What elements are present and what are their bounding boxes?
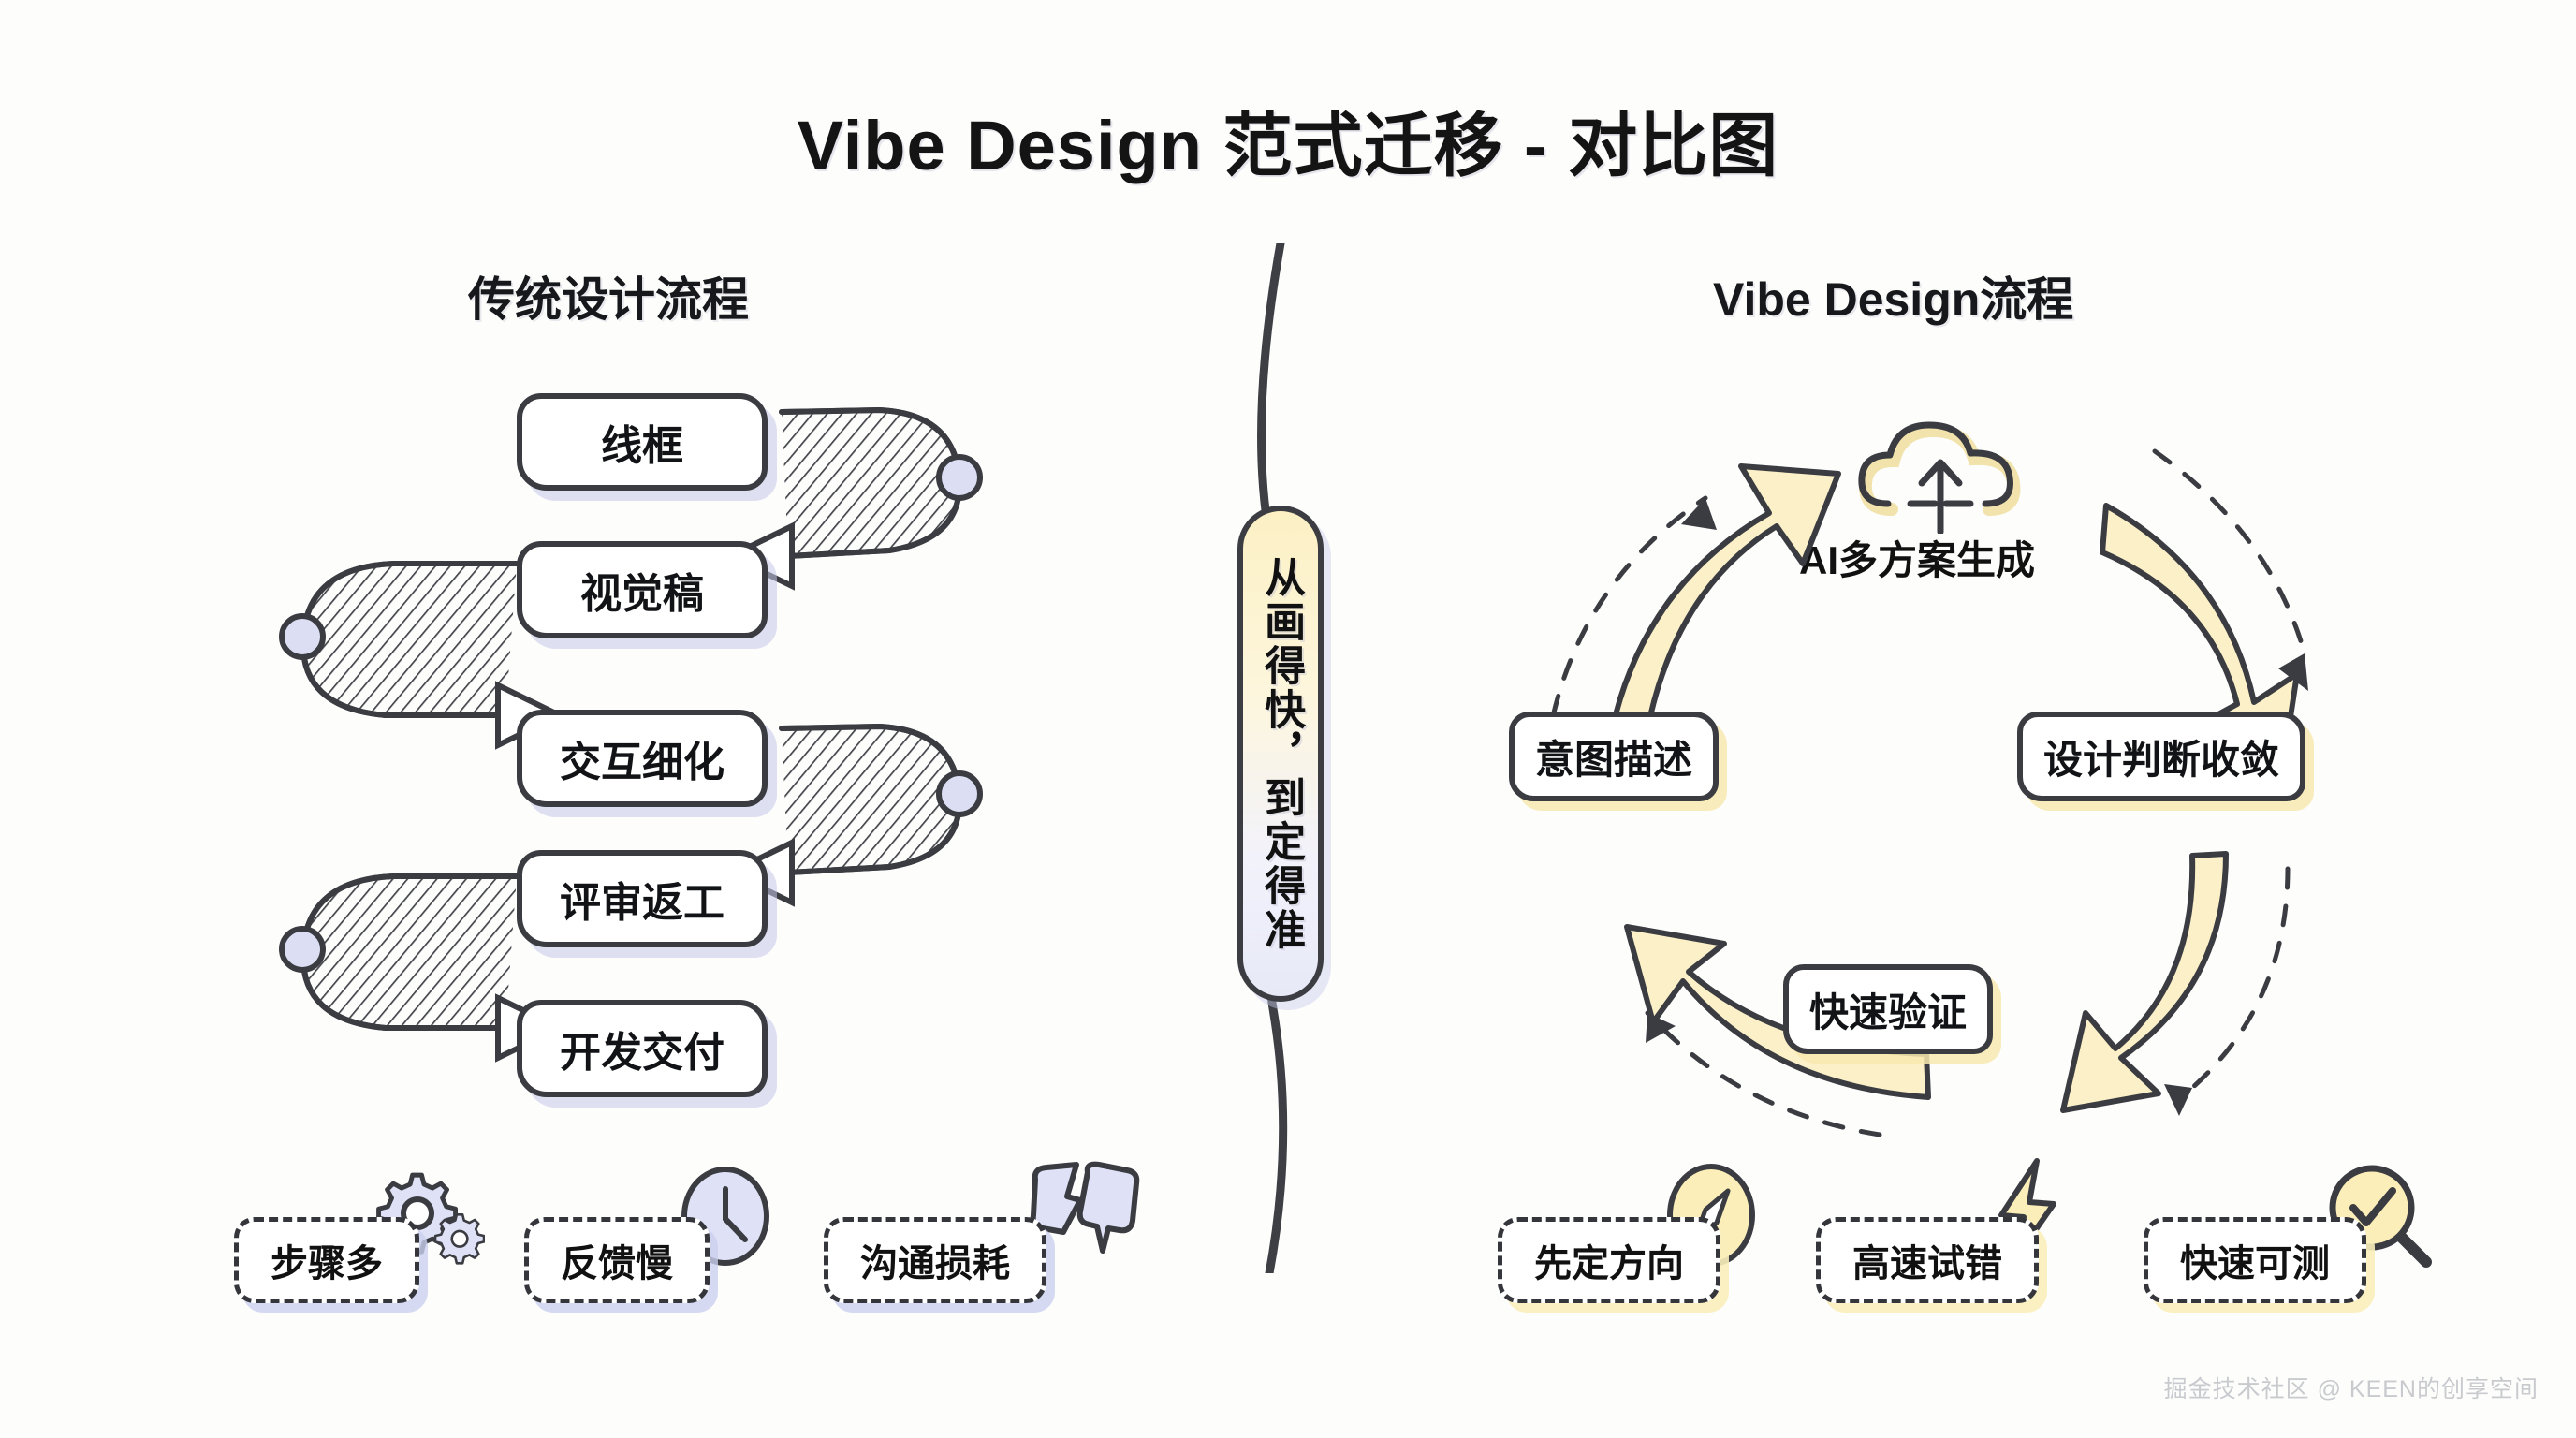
- cycle-node-box[interactable]: 意图描述: [1509, 712, 1719, 801]
- left-tag[interactable]: 步骤多: [234, 1217, 419, 1303]
- left-panel-heading: 传统设计流程: [468, 262, 749, 330]
- infographic-canvas: Vibe Design 范式迁移 - 对比图 传统设计流程: [0, 0, 2576, 1438]
- left-step-box[interactable]: 视觉稿: [517, 541, 768, 638]
- center-slogan-text: 从画得快，到定得准: [1259, 556, 1302, 952]
- center-slogan-pill: 从画得快，到定得准: [1237, 506, 1324, 1002]
- cycle-node-box[interactable]: 快速验证: [1783, 964, 1993, 1054]
- left-step-box[interactable]: 线框: [517, 393, 768, 491]
- left-step-box[interactable]: 交互细化: [517, 710, 768, 807]
- left-tag[interactable]: 沟通损耗: [824, 1217, 1046, 1303]
- right-panel-heading: Vibe Design流程: [1713, 262, 2073, 330]
- page-title: Vibe Design 范式迁移 - 对比图: [0, 90, 2576, 190]
- left-tag[interactable]: 反馈慢: [524, 1217, 710, 1303]
- left-step-box[interactable]: 评审返工: [517, 850, 768, 947]
- right-tag[interactable]: 高速试错: [1816, 1217, 2039, 1303]
- watermark: 掘金技术社区 @ KEEN的创享空间: [2164, 1371, 2539, 1404]
- cycle-node-box[interactable]: 设计判断收敛: [2017, 712, 2305, 801]
- right-tag[interactable]: 先定方向: [1498, 1217, 1720, 1303]
- left-step-box[interactable]: 开发交付: [517, 1000, 768, 1097]
- right-tag[interactable]: 快速可测: [2144, 1217, 2366, 1303]
